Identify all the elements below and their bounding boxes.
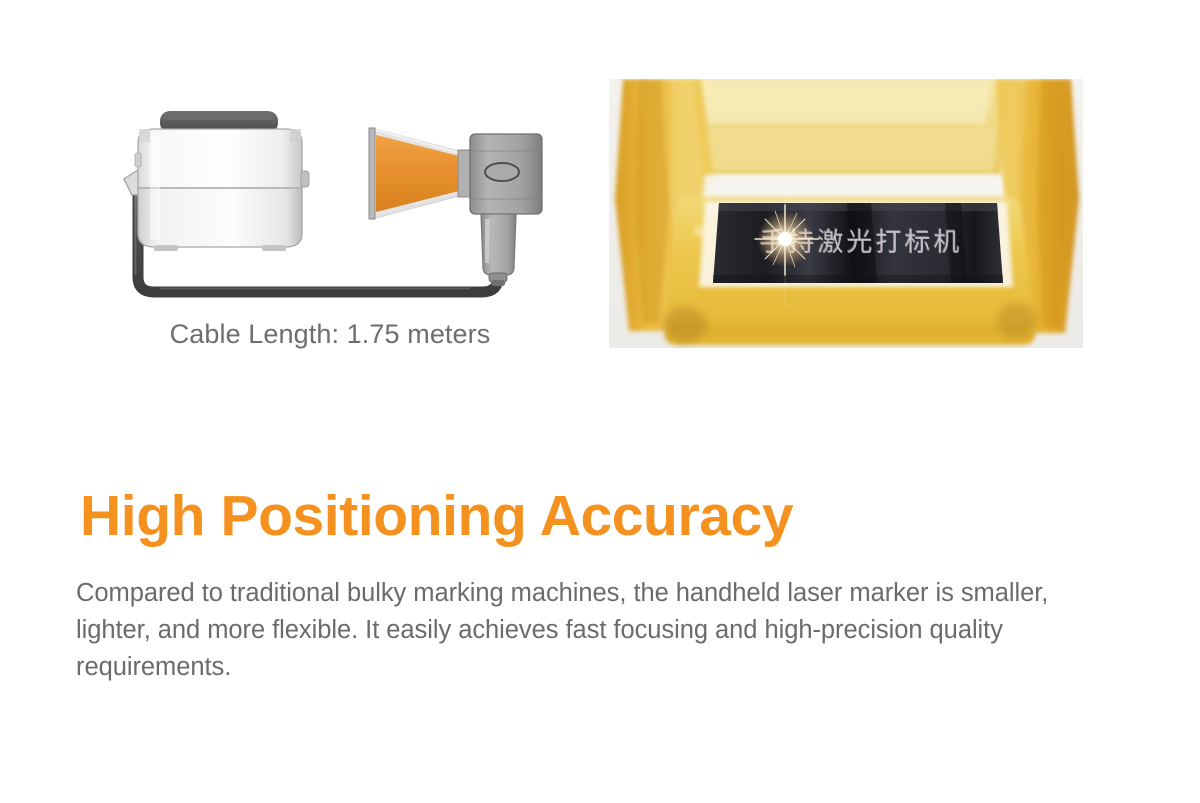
product-illustration-panel: Cable Length: 1.75 meters	[110, 95, 550, 360]
gun-oval-button[interactable]	[485, 163, 519, 181]
page-title: High Positioning Accuracy	[80, 485, 793, 547]
marking-photo: 手持激光打标机 手持激光打标机	[609, 79, 1083, 348]
orange-safety-shield-cone	[376, 135, 459, 212]
feature-description: Compared to traditional bulky marking ma…	[76, 575, 1096, 686]
laser-engraving-photo-art: 手持激光打标机 手持激光打标机	[609, 79, 1083, 348]
laser-source-unit	[135, 129, 309, 251]
handheld-marking-gun	[369, 128, 542, 286]
cable-length-caption: Cable Length: 1.75 meters	[110, 319, 550, 350]
handheld-laser-marker-diagram	[110, 95, 550, 325]
shield-rear-wall	[679, 79, 1013, 175]
